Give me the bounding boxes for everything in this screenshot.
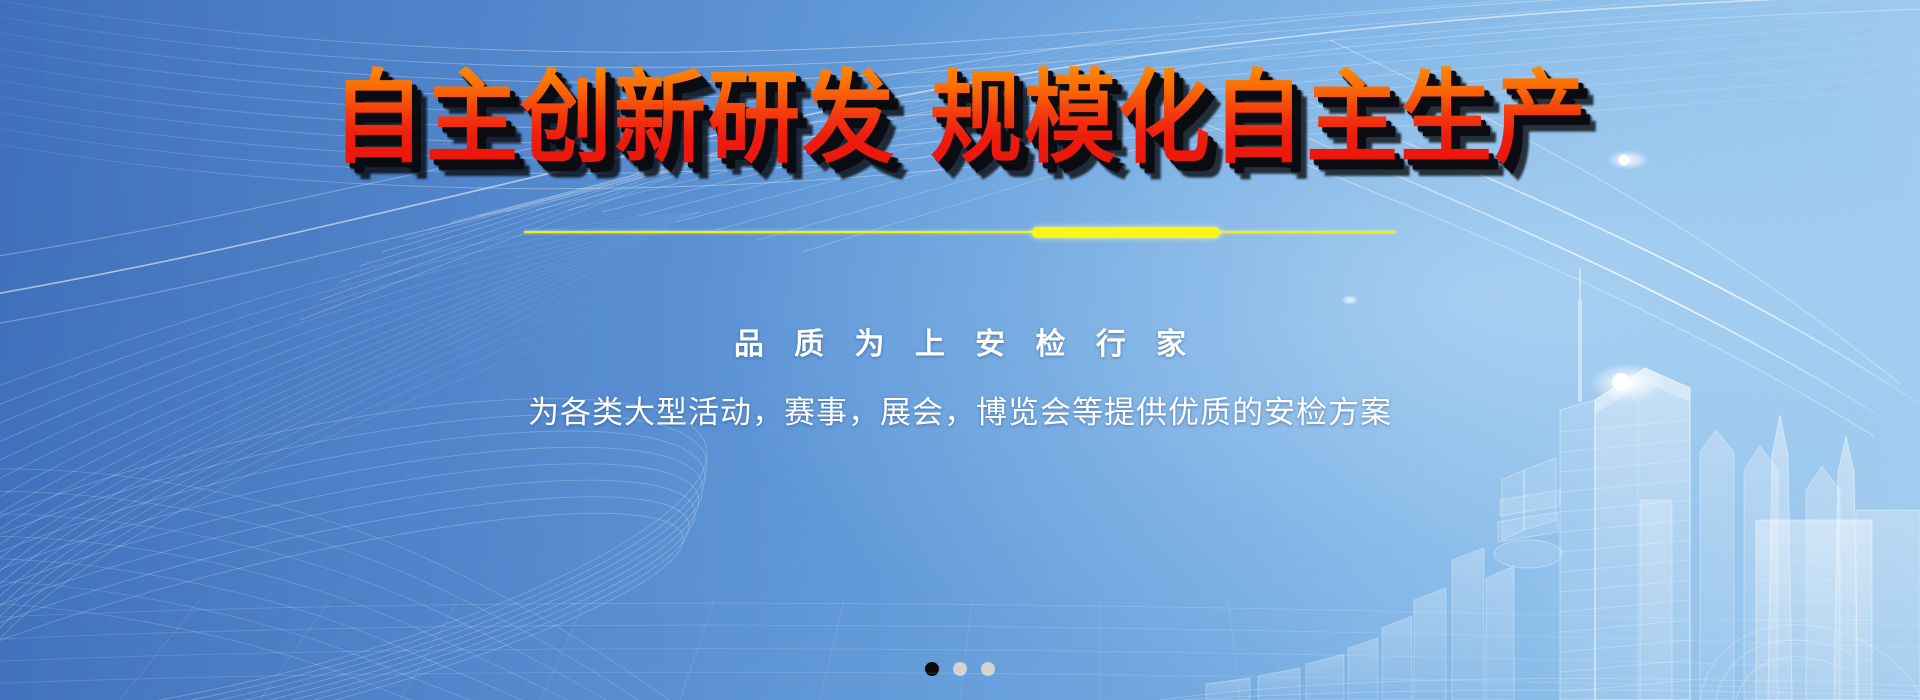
subtitle-secondary: 为各类大型活动，赛事，展会，博览会等提供优质的安检方案 — [528, 387, 1392, 432]
banner-content: 自主创新研发 规模化自主生产 品 质 为 上 安 检 行 家 为各类大型活动，赛… — [0, 0, 1920, 700]
subtitle-primary: 品 质 为 上 安 检 行 家 — [723, 319, 1197, 363]
divider-thin-line — [524, 231, 1396, 233]
yellow-divider — [524, 225, 1396, 239]
divider-accent-bar — [1032, 227, 1220, 238]
page-title: 自主创新研发 规模化自主生产 — [332, 66, 1588, 172]
hero-banner: 自主创新研发 规模化自主生产 品 质 为 上 安 检 行 家 为各类大型活动，赛… — [0, 0, 1920, 700]
